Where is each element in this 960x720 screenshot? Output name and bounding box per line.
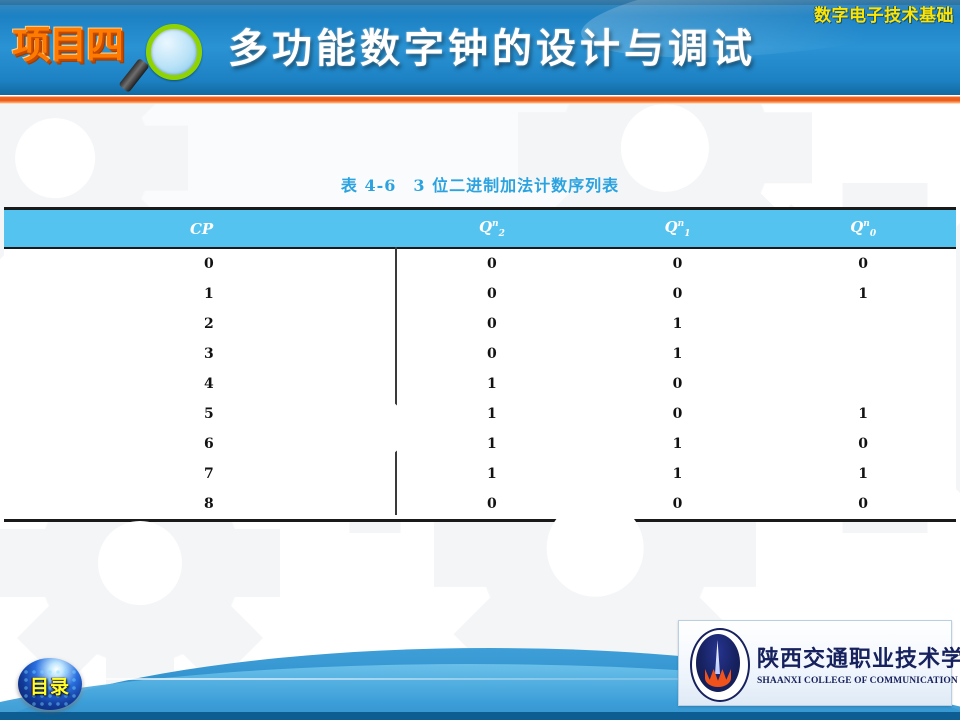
- cell-cp: 7: [4, 459, 399, 489]
- cell-q0: 0: [770, 489, 956, 519]
- column-header-q2: Qn2: [399, 210, 585, 248]
- slide-canvas: 项目四 多功能数字钟的设计与调试 数字电子技术基础 表 4-6 3 位二进制加法…: [0, 0, 960, 720]
- page-title: 多功能数字钟的设计与调试: [228, 18, 828, 80]
- cell-q0: 0: [770, 248, 956, 279]
- cell-cp: 6: [4, 429, 399, 459]
- table: CP Qn2 Qn1 Qn0 0000100120103011410051016…: [4, 210, 956, 519]
- cell-q2: 1: [399, 459, 585, 489]
- column-header-cp: CP: [4, 210, 399, 248]
- table-head: CP Qn2 Qn1 Qn0: [4, 210, 956, 248]
- table-vertical-divider: [395, 247, 397, 515]
- table-row: 2010: [4, 309, 956, 339]
- college-crest-icon: [683, 625, 753, 701]
- counter-sequence-table: CP Qn2 Qn1 Qn0 0000100120103011410051016…: [4, 207, 956, 522]
- column-header-q1: Qn1: [585, 210, 771, 248]
- table-header-row: CP Qn2 Qn1 Qn0: [4, 210, 956, 248]
- cell-q1: 0: [585, 369, 771, 399]
- college-name-en: SHAANXI COLLEGE OF COMMUNICATION TECHNOL…: [757, 676, 960, 686]
- cell-cp: 2: [4, 309, 399, 339]
- table-row: 3011: [4, 339, 956, 369]
- cell-cp: 8: [4, 489, 399, 519]
- college-name-cn: 陕西交通职业技术学院: [757, 641, 960, 673]
- slide-header: 项目四 多功能数字钟的设计与调试 数字电子技术基础: [0, 0, 960, 95]
- college-name-block: 陕西交通职业技术学院 SHAANXI COLLEGE OF COMMUNICAT…: [757, 641, 960, 686]
- column-header-q0: Qn0: [770, 210, 956, 248]
- cell-cp: 1: [4, 279, 399, 309]
- footer-baseline: [0, 712, 960, 720]
- cell-q2: 0: [399, 489, 585, 519]
- table-row: 6110: [4, 429, 956, 459]
- cell-q2: 0: [399, 279, 585, 309]
- cell-q0: 0: [770, 429, 956, 459]
- table-row: 7111: [4, 459, 956, 489]
- cell-q1: 1: [585, 339, 771, 369]
- table-of-contents-button[interactable]: 目录: [18, 658, 82, 710]
- cell-q0: 1: [770, 279, 956, 309]
- cell-q1: 1: [585, 309, 771, 339]
- cell-q1: 0: [585, 399, 771, 429]
- cell-cp: 0: [4, 248, 399, 279]
- project-badge-label: 项目四: [12, 14, 123, 69]
- cell-q2: 1: [399, 399, 585, 429]
- toc-orb-icon: [18, 658, 82, 710]
- cell-q0: 1: [770, 459, 956, 489]
- cell-q2: 0: [399, 248, 585, 279]
- course-tag-label: 数字电子技术基础: [814, 1, 954, 26]
- cell-q1: 0: [585, 279, 771, 309]
- magnifier-icon: [132, 22, 204, 92]
- college-logo: 陕西交通职业技术学院 SHAANXI COLLEGE OF COMMUNICAT…: [678, 620, 952, 706]
- table-caption: 表 4-6 3 位二进制加法计数序列表: [0, 172, 960, 196]
- cell-q1: 1: [585, 429, 771, 459]
- cell-cp: 4: [4, 369, 399, 399]
- table-row: 5101: [4, 399, 956, 429]
- project-badge: 项目四: [8, 8, 208, 86]
- cell-cp: 5: [4, 399, 399, 429]
- cell-q2: 1: [399, 429, 585, 459]
- table-row: 8000: [4, 489, 956, 519]
- cell-q2: 0: [399, 339, 585, 369]
- table-row: 1001: [4, 279, 956, 309]
- table-row: 4100: [4, 369, 956, 399]
- table-row: 0000: [4, 248, 956, 279]
- cell-q2: 1: [399, 369, 585, 399]
- cell-q1: 1: [585, 459, 771, 489]
- cell-cp: 3: [4, 339, 399, 369]
- header-orange-band: [0, 95, 960, 104]
- cell-q2: 0: [399, 309, 585, 339]
- table-body: 000010012010301141005101611071118000: [4, 248, 956, 519]
- cell-q1: 0: [585, 248, 771, 279]
